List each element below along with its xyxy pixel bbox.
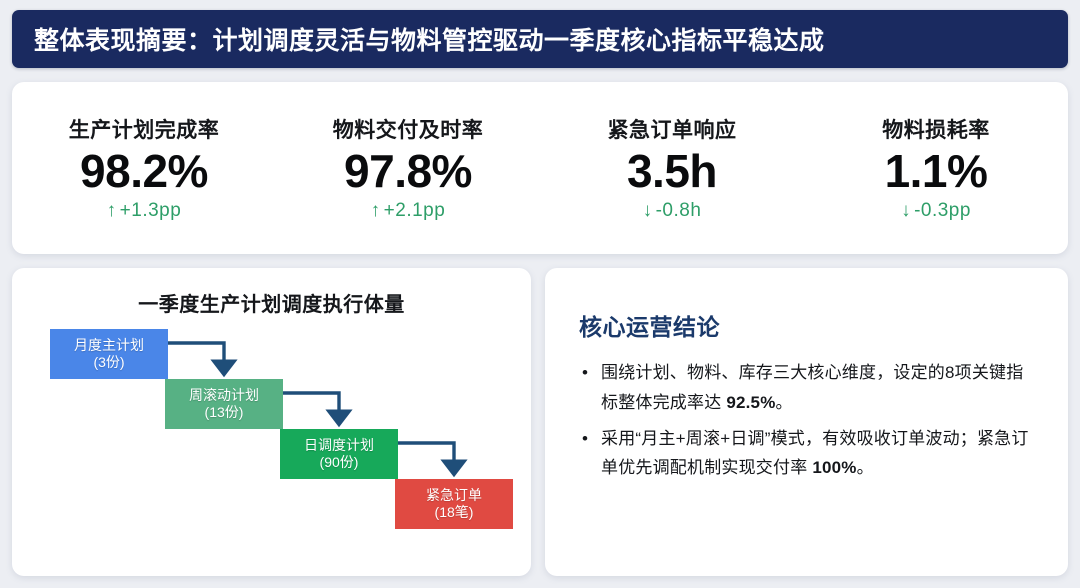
cascade-node-label: 周滚动计划	[189, 387, 259, 405]
page-title: 整体表现摘要：计划调度灵活与物料管控驱动一季度核心指标平稳达成	[34, 21, 825, 57]
kpi-item-material-delivery: 物料交付及时率 97.8% ↑+2.1pp	[276, 114, 540, 222]
kpi-item-urgent-order-response: 紧急订单响应 3.5h ↓-0.8h	[540, 114, 804, 222]
cascade-node-daily-plan: 日调度计划 (90份)	[280, 429, 398, 479]
cascade-node-value: (90份)	[320, 454, 359, 472]
kpi-label: 紧急订单响应	[608, 114, 737, 144]
kpi-label: 生产计划完成率	[69, 114, 220, 144]
bottom-row: 一季度生产计划调度执行体量 月度主计划	[12, 268, 1068, 576]
kpi-delta-value: -0.8h	[656, 200, 702, 221]
arrow-up-icon: ↑	[371, 200, 381, 221]
kpi-summary-card: 生产计划完成率 98.2% ↑+1.3pp 物料交付及时率 97.8% ↑+2.…	[12, 82, 1068, 254]
conclusions-list: 围绕计划、物料、库存三大核心维度，设定的8项关键指标整体完成率达 92.5%。 …	[579, 358, 1034, 483]
kpi-value: 1.1%	[885, 146, 988, 198]
kpi-delta: ↓-0.8h	[643, 200, 702, 222]
kpi-delta-value: +2.1pp	[384, 200, 446, 221]
kpi-item-material-loss-rate: 物料损耗率 1.1% ↓-0.3pp	[804, 114, 1068, 222]
chart-title: 一季度生产计划调度执行体量	[12, 288, 531, 317]
list-item: 围绕计划、物料、库存三大核心维度，设定的8项关键指标整体完成率达 92.5%。	[579, 358, 1034, 418]
connector-arrow-1	[168, 343, 224, 367]
conclusions-panel: 核心运营结论 围绕计划、物料、库存三大核心维度，设定的8项关键指标整体完成率达 …	[545, 268, 1068, 576]
header-banner: 整体表现摘要：计划调度灵活与物料管控驱动一季度核心指标平稳达成	[12, 10, 1068, 68]
cascade-node-weekly-plan: 周滚动计划 (13份)	[165, 379, 283, 429]
kpi-delta: ↑+2.1pp	[371, 200, 446, 222]
kpi-value: 3.5h	[627, 146, 717, 198]
kpi-label: 物料交付及时率	[333, 114, 484, 144]
kpi-label: 物料损耗率	[882, 114, 990, 144]
cascade-node-urgent-order: 紧急订单 (18笔)	[395, 479, 513, 529]
kpi-delta-value: -0.3pp	[914, 200, 971, 221]
cascade-node-value: (18笔)	[435, 504, 474, 522]
conclusions-title: 核心运营结论	[579, 308, 1034, 342]
dashboard-page: 整体表现摘要：计划调度灵活与物料管控驱动一季度核心指标平稳达成 生产计划完成率 …	[0, 0, 1080, 588]
kpi-delta: ↑+1.3pp	[107, 200, 182, 222]
cascade-node-label: 日调度计划	[304, 437, 374, 455]
cascade-node-value: (3份)	[93, 354, 124, 372]
cascade-node-value: (13份)	[205, 404, 244, 422]
arrow-down-icon: ↓	[643, 200, 653, 221]
kpi-item-production-plan: 生产计划完成率 98.2% ↑+1.3pp	[12, 114, 276, 222]
cascade-diagram: 月度主计划 (3份) 周滚动计划 (13份) 日调度计划 (90份) 紧急订单 …	[12, 323, 531, 538]
connector-arrow-2	[283, 393, 339, 417]
list-item: 采用“月主+周滚+日调”模式，有效吸收订单波动；紧急订单优先调配机制实现交付率 …	[579, 424, 1034, 484]
connector-arrow-3	[398, 443, 454, 467]
cascade-node-monthly-plan: 月度主计划 (3份)	[50, 329, 168, 379]
arrow-up-icon: ↑	[107, 200, 117, 221]
cascade-chart-panel: 一季度生产计划调度执行体量 月度主计划	[12, 268, 531, 576]
kpi-delta: ↓-0.3pp	[901, 200, 971, 222]
kpi-value: 97.8%	[344, 146, 472, 198]
kpi-value: 98.2%	[80, 146, 208, 198]
cascade-node-label: 月度主计划	[74, 337, 144, 355]
cascade-node-label: 紧急订单	[426, 487, 482, 505]
kpi-delta-value: +1.3pp	[120, 200, 182, 221]
arrow-down-icon: ↓	[901, 200, 911, 221]
